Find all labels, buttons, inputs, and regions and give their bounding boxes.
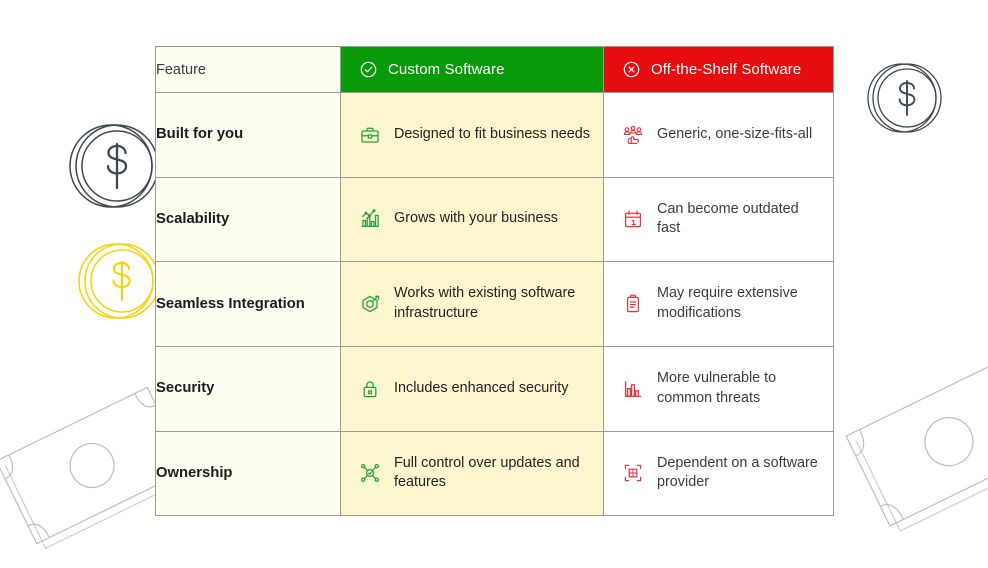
integration-node-icon bbox=[359, 293, 381, 315]
off-the-shelf-text: Can become outdated fast bbox=[657, 200, 821, 239]
feature-name: Scalability bbox=[156, 177, 341, 262]
custom-software-cell: Grows with your business bbox=[341, 177, 604, 262]
custom-software-cell: Designed to fit business needs bbox=[341, 93, 604, 178]
dollar-coin-icon bbox=[66, 118, 162, 214]
custom-software-text: Includes enhanced security bbox=[394, 379, 568, 399]
feature-name: Security bbox=[156, 347, 341, 432]
lock-icon bbox=[359, 378, 381, 400]
feature-name: Ownership bbox=[156, 431, 341, 516]
network-control-icon bbox=[359, 462, 381, 484]
custom-software-cell: Works with existing software infrastruct… bbox=[341, 262, 604, 347]
comparison-table: Feature Custom Software bbox=[155, 46, 834, 516]
custom-software-text: Designed to fit business needs bbox=[394, 125, 590, 145]
feature-name: Built for you bbox=[156, 93, 341, 178]
table-header-row: Feature Custom Software bbox=[156, 47, 834, 93]
briefcase-icon bbox=[359, 124, 381, 146]
table-row: Ownership Full control over updates and … bbox=[156, 431, 834, 516]
clipboard-icon bbox=[622, 293, 644, 315]
dollar-coin-icon bbox=[76, 238, 162, 324]
calendar-icon bbox=[622, 208, 644, 230]
custom-software-cell: Full control over updates and features bbox=[341, 431, 604, 516]
custom-software-text: Grows with your business bbox=[394, 209, 558, 229]
off-the-shelf-text: Dependent on a software provider bbox=[657, 454, 821, 493]
feature-name: Seamless Integration bbox=[156, 262, 341, 347]
column-header-off-the-shelf: Off-the-Shelf Software bbox=[604, 47, 834, 93]
off-the-shelf-cell: Dependent on a software provider bbox=[604, 431, 834, 516]
check-circle-icon bbox=[360, 61, 377, 78]
column-header-custom-software: Custom Software bbox=[341, 47, 604, 93]
off-the-shelf-cell: May require extensive modifications bbox=[604, 262, 834, 347]
boxed-provider-icon bbox=[622, 462, 644, 484]
x-circle-icon bbox=[623, 61, 640, 78]
table-row: Built for you Designed to fit business n… bbox=[156, 93, 834, 178]
off-the-shelf-cell: Can become outdated fast bbox=[604, 177, 834, 262]
column-header-feature: Feature bbox=[156, 47, 341, 93]
dollar-coin-icon bbox=[865, 58, 945, 138]
off-the-shelf-text: More vulnerable to common threats bbox=[657, 369, 821, 408]
table-row: Security Includes enhanced security bbox=[156, 347, 834, 432]
off-the-shelf-text: Generic, one-size-fits-all bbox=[657, 125, 812, 145]
custom-software-text: Full control over updates and features bbox=[394, 454, 591, 493]
people-group-icon bbox=[622, 124, 644, 146]
off-the-shelf-cell: More vulnerable to common threats bbox=[604, 347, 834, 432]
custom-software-cell: Includes enhanced security bbox=[341, 347, 604, 432]
growth-chart-icon bbox=[359, 208, 381, 230]
custom-software-text: Works with existing software infrastruct… bbox=[394, 284, 591, 323]
column-header-custom-label: Custom Software bbox=[388, 61, 505, 78]
table-row: Seamless Integration Works with existing… bbox=[156, 262, 834, 347]
bar-chart-icon bbox=[622, 378, 644, 400]
off-the-shelf-cell: Generic, one-size-fits-all bbox=[604, 93, 834, 178]
off-the-shelf-text: May require extensive modifications bbox=[657, 284, 821, 323]
table-row: Scalability Grows wit bbox=[156, 177, 834, 262]
banknote-icon bbox=[838, 338, 988, 553]
column-header-ots-label: Off-the-Shelf Software bbox=[651, 61, 801, 78]
